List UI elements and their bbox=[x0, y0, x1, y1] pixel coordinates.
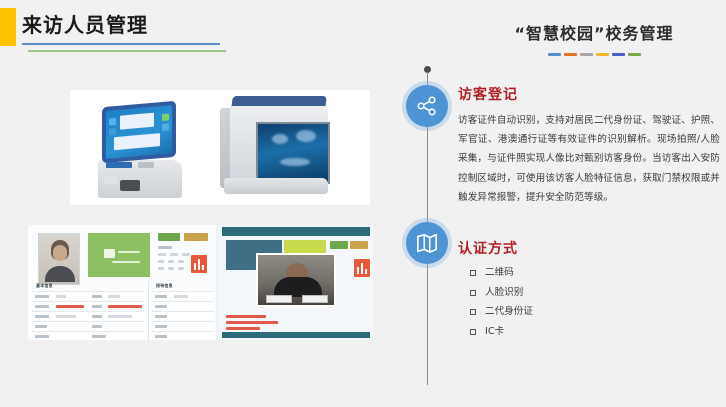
field-label bbox=[170, 253, 178, 256]
app-title-bar bbox=[222, 227, 370, 236]
section-visitor-registration: 访客登记 访客证件自动识别，支持对居民二代身份证、驾驶证、护照、军官证、港澳通行… bbox=[458, 84, 720, 207]
visitor-photo-shoulders bbox=[45, 266, 75, 282]
table-row bbox=[152, 321, 214, 330]
field-label bbox=[168, 260, 174, 263]
table-row bbox=[32, 291, 144, 300]
field-label bbox=[178, 260, 184, 263]
software-panel-registration-form: 基本信息 接待信息 bbox=[28, 225, 216, 340]
software-panel-face-capture bbox=[218, 225, 373, 340]
kiosk-right-screen-glow bbox=[296, 130, 316, 142]
section-auth-methods: 认证方式 二维码 人脸识别 二代身份证 IC卡 bbox=[458, 238, 720, 343]
row-label bbox=[155, 335, 167, 338]
section-2-heading: 认证方式 bbox=[458, 238, 720, 258]
field-label bbox=[178, 267, 184, 270]
list-item-label: 人脸识别 bbox=[485, 285, 523, 301]
table-row bbox=[152, 311, 214, 320]
kiosk-right-screen-glow bbox=[280, 158, 310, 166]
chart-bar bbox=[365, 269, 367, 274]
visitor-id-photo bbox=[38, 233, 80, 285]
kiosk-left-scanner bbox=[120, 180, 140, 191]
title-accent-swatch bbox=[0, 8, 16, 46]
dash-gray bbox=[580, 53, 593, 56]
list-item-label: 二维码 bbox=[485, 265, 514, 281]
row-label bbox=[92, 315, 102, 318]
dash-orange bbox=[564, 53, 577, 56]
checkbox-icon[interactable] bbox=[470, 309, 476, 315]
chart-bar bbox=[202, 265, 204, 270]
dash-blue bbox=[548, 53, 561, 56]
kiosk-right-screen bbox=[256, 122, 330, 184]
form-section-title: 基本信息 bbox=[36, 283, 53, 289]
field-label bbox=[168, 267, 174, 270]
alert-row bbox=[226, 327, 260, 330]
list-item: 二维码 bbox=[470, 265, 720, 281]
table-row bbox=[152, 291, 214, 300]
kiosk-left-pad bbox=[138, 162, 154, 168]
page-title-block: 来访人员管理 bbox=[0, 8, 360, 56]
row-value-highlight bbox=[56, 305, 84, 308]
toolbar-reset-button[interactable] bbox=[184, 233, 208, 241]
app-status-bar bbox=[222, 332, 370, 338]
section-1-body: 访客证件自动识别，支持对居民二代身份证、驾驶证、护照、军官证、港澳通行证等有效证… bbox=[458, 111, 720, 207]
statistics-icon-button[interactable] bbox=[191, 255, 207, 273]
visitor-photo-face bbox=[53, 245, 67, 261]
row-value bbox=[56, 315, 76, 318]
list-item-label: IC卡 bbox=[485, 324, 504, 340]
form-section-title-2: 接待信息 bbox=[156, 283, 173, 289]
brand-header: “智慧校园”校务管理 bbox=[462, 20, 726, 56]
map-icon-node bbox=[406, 222, 448, 264]
alert-row bbox=[226, 315, 266, 318]
share-icon bbox=[416, 95, 438, 117]
row-value bbox=[174, 295, 188, 298]
kiosk-left-window-bottom bbox=[114, 133, 160, 150]
list-item: IC卡 bbox=[470, 324, 720, 340]
capture-label-line bbox=[118, 251, 140, 253]
visitor-registration-software-screenshots: 基本信息 接待信息 bbox=[28, 225, 373, 340]
row-label bbox=[155, 295, 167, 298]
share-icon-node bbox=[406, 85, 448, 127]
kiosk-right-screen-glow bbox=[272, 134, 288, 144]
face-capture-dialog[interactable] bbox=[256, 253, 336, 307]
row-value bbox=[56, 295, 66, 298]
row-value-highlight bbox=[108, 305, 142, 308]
chart-bar bbox=[361, 263, 363, 274]
panel2-save-button[interactable] bbox=[330, 241, 348, 249]
dash-navy bbox=[612, 53, 625, 56]
kiosk-left-tray bbox=[104, 176, 118, 184]
list-item: 二代身份证 bbox=[470, 304, 720, 320]
dash-green bbox=[628, 53, 641, 56]
kiosk-left-tile bbox=[109, 128, 116, 136]
row-label bbox=[92, 295, 102, 298]
panel2-statistics-icon[interactable] bbox=[354, 259, 370, 277]
checkbox-icon[interactable] bbox=[470, 290, 476, 296]
field-label bbox=[182, 253, 190, 256]
row-label bbox=[155, 315, 167, 318]
dash-yellow bbox=[596, 53, 609, 56]
alert-row bbox=[226, 321, 278, 324]
toolbar-save-button[interactable] bbox=[158, 233, 180, 241]
map-icon bbox=[415, 232, 439, 254]
list-item-label: 二代身份证 bbox=[485, 304, 533, 320]
visitor-kiosk-terminals-photo bbox=[70, 90, 370, 205]
panel-divider bbox=[148, 281, 149, 340]
kiosk-right-body bbox=[230, 106, 328, 180]
row-label bbox=[35, 325, 47, 328]
kiosk-left-screen bbox=[106, 105, 172, 159]
panel2-reset-button[interactable] bbox=[350, 241, 368, 249]
panel-caption bbox=[158, 246, 172, 249]
checkbox-icon[interactable] bbox=[470, 270, 476, 276]
field-label bbox=[158, 253, 166, 256]
kiosk-terminal-right bbox=[220, 96, 338, 200]
row-label bbox=[92, 335, 106, 338]
kiosk-left-tile bbox=[109, 118, 116, 126]
field-label bbox=[158, 260, 164, 263]
detected-body bbox=[274, 277, 322, 297]
row-label bbox=[92, 325, 102, 328]
row-label bbox=[155, 305, 167, 308]
title-rule-blue bbox=[22, 43, 220, 45]
chart-bar bbox=[194, 263, 196, 270]
table-row bbox=[32, 311, 144, 320]
row-value bbox=[108, 295, 120, 298]
table-row bbox=[32, 321, 144, 330]
kiosk-left-tile bbox=[162, 123, 169, 131]
kiosk-right-base bbox=[224, 178, 328, 194]
kiosk-left-window-top bbox=[120, 113, 154, 130]
table-row bbox=[152, 301, 214, 310]
chart-bar bbox=[198, 259, 200, 270]
table-row bbox=[152, 331, 214, 340]
row-label bbox=[35, 295, 49, 298]
table-row bbox=[32, 301, 144, 310]
table-row bbox=[32, 331, 144, 340]
brand-dash-row bbox=[462, 53, 726, 56]
slide-root: 来访人员管理 “智慧校园”校务管理 bbox=[0, 0, 726, 407]
checkbox-icon[interactable] bbox=[470, 329, 476, 335]
capture-hint-line bbox=[112, 261, 140, 263]
title-rule-green bbox=[28, 50, 226, 52]
row-label bbox=[155, 325, 167, 328]
field-label bbox=[158, 267, 164, 270]
kiosk-left-tile bbox=[162, 113, 169, 121]
brand-header-title: “智慧校园”校务管理 bbox=[462, 20, 726, 44]
row-label bbox=[35, 335, 49, 338]
row-label bbox=[92, 305, 102, 308]
page-title: 来访人员管理 bbox=[22, 10, 148, 40]
dialog-confirm-button[interactable] bbox=[302, 295, 328, 303]
row-value bbox=[108, 315, 132, 318]
kiosk-left-screen-frame bbox=[102, 101, 176, 163]
chart-bar bbox=[357, 267, 359, 274]
camera-icon bbox=[104, 249, 115, 258]
section-1-heading: 访客登记 bbox=[458, 84, 720, 104]
row-label bbox=[35, 315, 49, 318]
list-item: 人脸识别 bbox=[470, 285, 720, 301]
dialog-capture-button[interactable] bbox=[266, 295, 292, 303]
kiosk-terminal-left bbox=[92, 98, 192, 198]
kiosk-left-card-slot bbox=[106, 162, 132, 168]
row-label bbox=[35, 305, 49, 308]
capture-panel[interactable] bbox=[88, 233, 150, 277]
auth-method-list: 二维码 人脸识别 二代身份证 IC卡 bbox=[458, 265, 720, 340]
